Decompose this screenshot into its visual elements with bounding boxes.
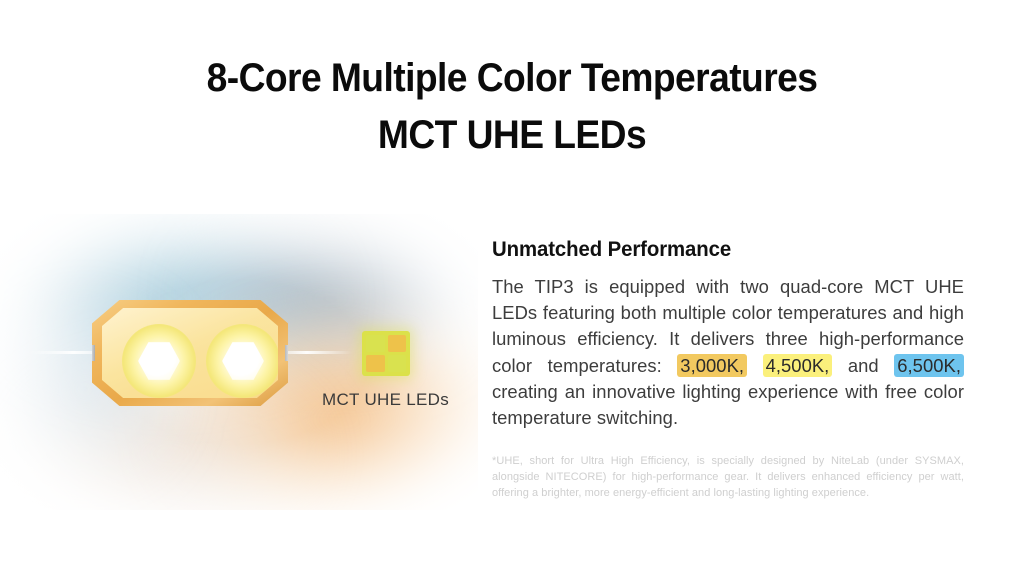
slide-canvas: 8-Core Multiple Color Temperatures MCT U… [0,0,1024,576]
section-subheading: Unmatched Performance [492,238,950,262]
led-emitter-right [206,324,280,398]
quad-core-led-chip-icon [362,331,410,376]
led-module-inner [102,308,278,398]
temperature-badge-4500k: 4,500K, [763,354,833,377]
temperature-badge-3000k: 3,000K, [677,354,747,377]
page-title: 8-Core Multiple Color Temperatures MCT U… [0,50,1024,164]
paragraph-part-2: creating an innovative lighting experien… [492,381,964,428]
title-line-1: 8-Core Multiple Color Temperatures [36,50,988,107]
paragraph-separator-1 [747,355,763,376]
description-column: Unmatched Performance The TIP3 is equipp… [492,238,964,501]
chip-cell-top-left [366,335,385,352]
description-paragraph: The TIP3 is equipped with two quad-core … [492,274,964,431]
temperature-badge-6500k: 6,500K, [894,354,964,377]
dual-led-module-icon [92,300,288,406]
title-line-2: MCT UHE LEDs [36,107,988,164]
chip-cell-bottom-right [388,355,407,372]
footnote-text: *UHE, short for Ultra High Efficiency, i… [492,453,964,501]
led-emitter-left [122,324,196,398]
chip-cell-bottom-left [366,355,385,372]
hexagon-die-icon [222,342,264,380]
paragraph-conjunction: and [832,355,894,376]
chip-caption: MCT UHE LEDs [322,390,449,410]
hexagon-die-icon [138,342,180,380]
chip-cell-top-right [388,335,407,352]
